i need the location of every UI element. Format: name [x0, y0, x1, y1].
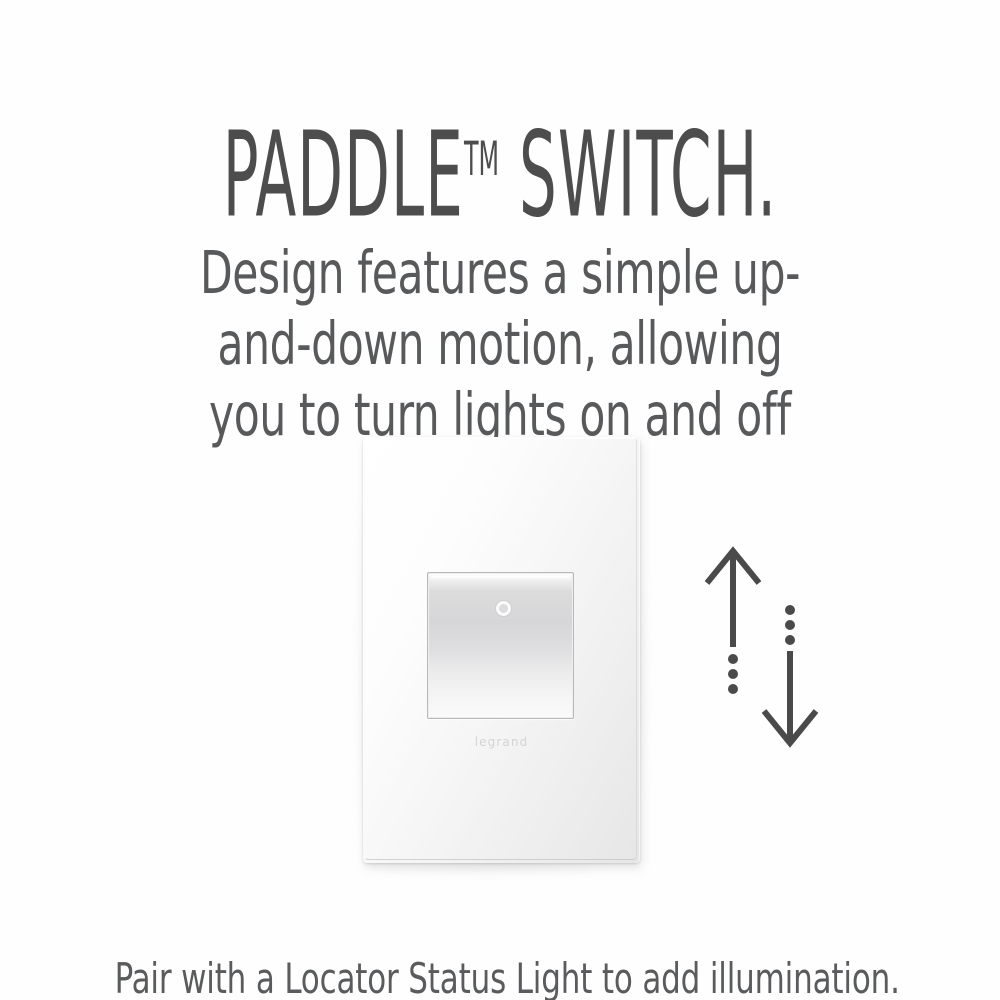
down-arrow-icon — [764, 651, 816, 743]
up-arrow-dots-icon — [728, 654, 738, 694]
paddle-face[interactable] — [429, 574, 572, 717]
trademark-symbol: TM — [464, 132, 499, 187]
caption-text: Pair with a Locator Status Light to add … — [115, 954, 886, 1000]
product-feature-card: PADDLETM SWITCH. Design features a simpl… — [0, 0, 1000, 1000]
paddle-switch[interactable] — [427, 572, 574, 719]
motion-arrows-diagram — [690, 535, 850, 760]
product-image: legrand — [355, 430, 655, 880]
page-title-main: PADDLE — [223, 105, 464, 243]
paddle-highlight — [431, 576, 570, 580]
status-indicator-icon — [496, 601, 511, 616]
brand-logo: legrand — [355, 735, 648, 749]
page-title: PADDLETM SWITCH. — [220, 97, 780, 237]
up-arrow-icon — [707, 551, 759, 647]
page-title-tail: SWITCH. — [499, 105, 777, 243]
down-arrow-dots-icon — [785, 605, 795, 645]
